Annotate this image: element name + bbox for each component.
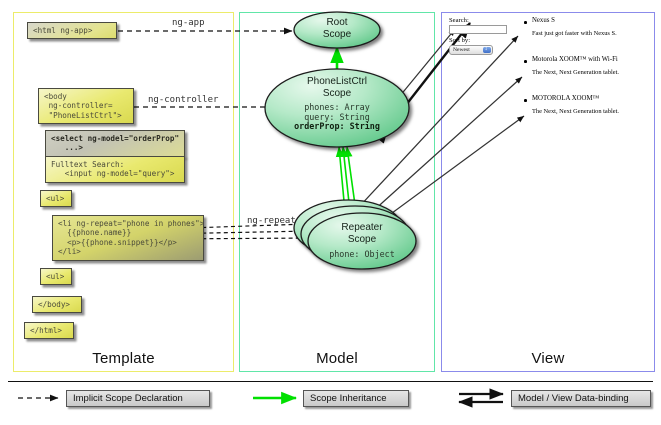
panel-model: Model: [239, 12, 435, 372]
phone-name: Nexus S: [532, 17, 555, 24]
diagram-canvas: Template Model View: [0, 0, 661, 425]
phone-snippet: The Next, Next Generation tablet.: [532, 108, 619, 115]
code-box-ul-open[interactable]: <ul>: [40, 190, 72, 207]
search-input[interactable]: [449, 25, 507, 34]
legend-implicit-scope-declaration: Implicit Scope Declaration: [66, 390, 210, 407]
edge-label-ng-app: ng-app: [172, 18, 205, 28]
code-box-li-ng-repeat[interactable]: <li ng-repeat="phone in phones"> {{phone…: [52, 215, 204, 261]
panel-template-label: Template: [14, 350, 233, 367]
bullet-icon: [524, 99, 527, 102]
code-box-ul-close[interactable]: <ul>: [40, 268, 72, 285]
legend-divider: [8, 381, 653, 382]
edge-label-ng-repeat: ng-repeat: [247, 216, 296, 226]
scope-repeater[interactable]: Repeater Scope phone: Object: [308, 222, 416, 260]
phone-snippet: Fast just got faster with Nexus S.: [532, 30, 617, 37]
view-mock: Search: Sort by: Newest Nexus S Fast jus…: [449, 17, 649, 137]
phone-snippet: The Next, Next Generation tablet.: [532, 69, 619, 76]
sort-select[interactable]: Newest: [449, 45, 493, 55]
scope-root-title-2: Scope: [294, 29, 380, 41]
scope-repeater-title-2: Scope: [308, 234, 416, 246]
bullet-icon: [524, 21, 527, 24]
scope-phonelistctrl-title-2: Scope: [265, 88, 409, 100]
view-search-label: Search:: [449, 17, 469, 24]
scope-prop-phone: phone: Object: [308, 250, 416, 260]
scope-phonelistctrl-title-1: PhoneListCtrl: [265, 76, 409, 88]
edge-label-ng-controller: ng-controller: [148, 95, 218, 105]
scope-repeater-title-1: Repeater: [308, 222, 416, 234]
phone-name: MOTOROLA XOOM™: [532, 95, 599, 102]
sort-select-value: Newest: [453, 47, 470, 53]
scope-root-title-1: Root: [294, 17, 380, 29]
panel-model-label: Model: [240, 350, 434, 367]
legend-model-view-data-binding: Model / View Data-binding: [511, 390, 651, 407]
phone-name: Motorola XOOM™ with Wi-Fi: [532, 56, 618, 63]
scope-prop-orderprop: orderProp: String: [265, 122, 409, 132]
code-box-html[interactable]: <html ng-app>: [27, 22, 117, 39]
panel-view-label: View: [442, 350, 654, 367]
view-sort-label: Sort by:: [449, 37, 470, 44]
legend-scope-inheritance: Scope Inheritance: [303, 390, 409, 407]
code-box-fulltext-search[interactable]: Fulltext Search: <input ng-model="query"…: [45, 156, 185, 183]
chevron-updown-icon[interactable]: [483, 47, 491, 53]
scope-root[interactable]: Root Scope: [294, 17, 380, 40]
code-box-select[interactable]: <select ng-model="orderProp" ...>: [45, 130, 185, 157]
code-box-body[interactable]: <body ng-controller= "PhoneListCtrl">: [38, 88, 134, 124]
code-box-html-close[interactable]: </html>: [24, 322, 74, 339]
bullet-icon: [524, 60, 527, 63]
code-box-body-close[interactable]: </body>: [32, 296, 82, 313]
scope-phonelistctrl[interactable]: PhoneListCtrl Scope phones: Array query:…: [265, 76, 409, 132]
